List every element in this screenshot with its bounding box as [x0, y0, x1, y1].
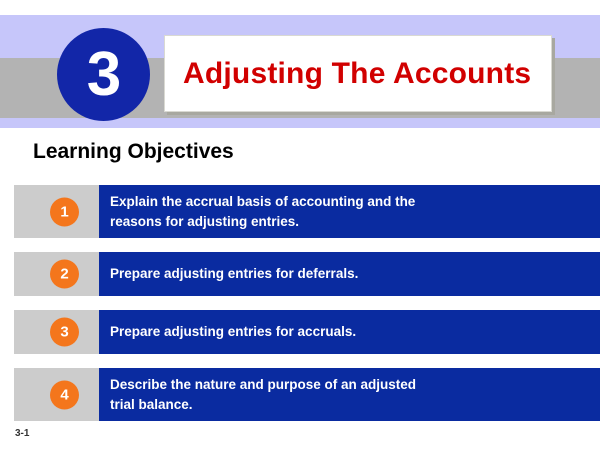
objective-bar: Prepare adjusting entries for deferrals. [99, 252, 600, 296]
objective-bar: Prepare adjusting entries for accruals. [99, 310, 600, 354]
title-box: Adjusting The Accounts [164, 35, 552, 112]
objective-number-badge: 1 [50, 197, 79, 226]
section-heading: Learning Objectives [33, 140, 234, 164]
objective-text: Prepare adjusting entries for deferrals. [99, 264, 372, 283]
list-item: 4 Describe the nature and purpose of an … [0, 368, 600, 421]
objective-text: Describe the nature and purpose of an ad… [99, 375, 430, 413]
list-item: 1 Explain the accrual basis of accountin… [0, 185, 600, 238]
learning-objectives-list: 1 Explain the accrual basis of accountin… [0, 185, 600, 435]
chapter-number-badge: 3 [57, 28, 150, 121]
page-number: 3-1 [15, 428, 29, 439]
objective-number-badge: 4 [50, 380, 79, 409]
objective-number-badge: 3 [50, 318, 79, 347]
list-item: 2 Prepare adjusting entries for deferral… [0, 252, 600, 296]
objective-bar: Describe the nature and purpose of an ad… [99, 368, 600, 421]
objective-number-badge: 2 [50, 260, 79, 289]
objective-text: Prepare adjusting entries for accruals. [99, 322, 370, 341]
objective-text: Explain the accrual basis of accounting … [99, 192, 429, 230]
list-item: 3 Prepare adjusting entries for accruals… [0, 310, 600, 354]
objective-bar: Explain the accrual basis of accounting … [99, 185, 600, 238]
page-title: Adjusting The Accounts [165, 57, 531, 91]
